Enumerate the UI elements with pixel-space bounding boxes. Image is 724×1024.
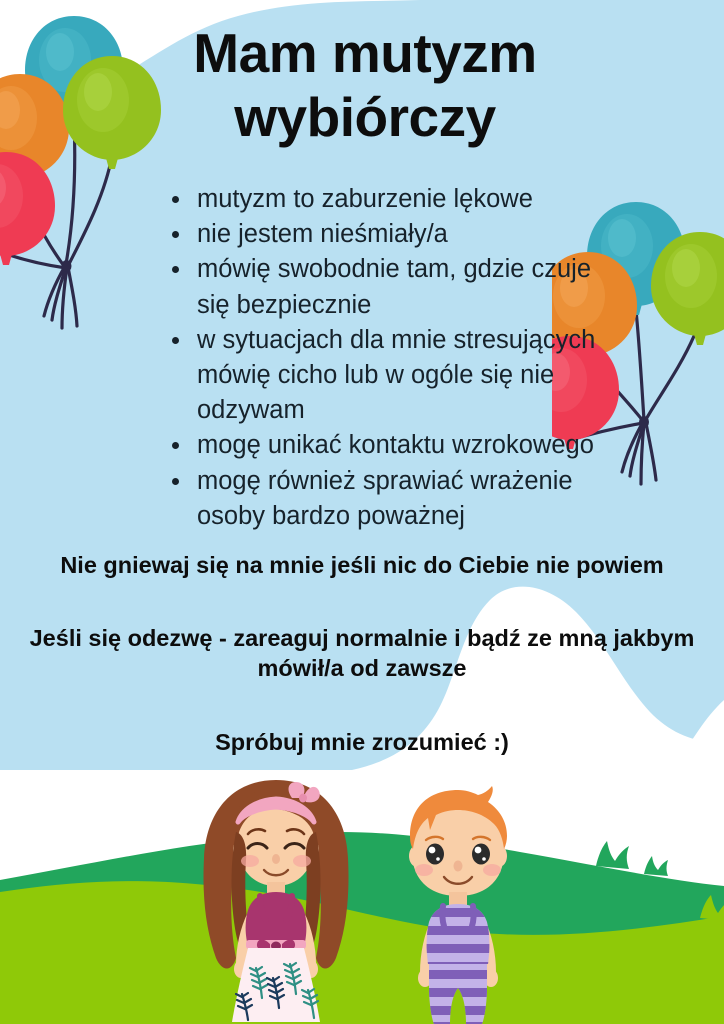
title-line-1: Mam mutyzm <box>140 22 590 86</box>
bullet-dot-icon <box>172 337 179 344</box>
list-item-label: mówię swobodnie tam, gdzie czuje się bez… <box>197 255 591 318</box>
bullet-dot-icon <box>172 196 179 203</box>
list-item: mutyzm to zaburzenie lękowe <box>170 182 600 217</box>
bullet-dot-icon <box>172 266 179 273</box>
poster-canvas: Mam mutyzm wybiórczy mutyzm to zaburzeni… <box>0 0 724 1024</box>
title-line-2: wybiórczy <box>140 86 590 150</box>
message-line-1: Nie gniewaj się na mnie jeśli nic do Cie… <box>0 550 724 580</box>
list-item-label: mutyzm to zaburzenie lękowe <box>197 185 533 213</box>
message-line-2: Jeśli się odezwę - zareaguj normalnie i … <box>0 623 724 683</box>
list-item-label: w sytuacjach dla mnie stresujących mówię… <box>197 326 595 424</box>
bullet-dot-icon <box>172 442 179 449</box>
list-item-label: nie jestem nieśmiały/a <box>197 220 448 248</box>
list-item: mówię swobodnie tam, gdzie czuje się bez… <box>170 252 600 322</box>
bullet-dot-icon <box>172 231 179 238</box>
boy-character <box>388 782 548 1024</box>
symptom-list: mutyzm to zaburzenie lękowe nie jestem n… <box>170 182 600 534</box>
girl-character <box>186 772 366 1024</box>
list-item: nie jestem nieśmiały/a <box>170 217 600 252</box>
list-item: mogę również sprawiać wrażenie osoby bar… <box>170 464 600 534</box>
bullet-dot-icon <box>172 478 179 485</box>
list-item: mogę unikać kontaktu wzrokowego <box>170 428 600 463</box>
list-item-label: mogę unikać kontaktu wzrokowego <box>197 431 594 459</box>
list-item: w sytuacjach dla mnie stresujących mówię… <box>170 323 600 429</box>
message-block: Nie gniewaj się na mnie jeśli nic do Cie… <box>0 550 724 757</box>
list-item-label: mogę również sprawiać wrażenie osoby bar… <box>197 467 573 530</box>
message-line-3: Spróbuj mnie zrozumieć :) <box>0 727 724 757</box>
page-title: Mam mutyzm wybiórczy <box>140 22 590 150</box>
